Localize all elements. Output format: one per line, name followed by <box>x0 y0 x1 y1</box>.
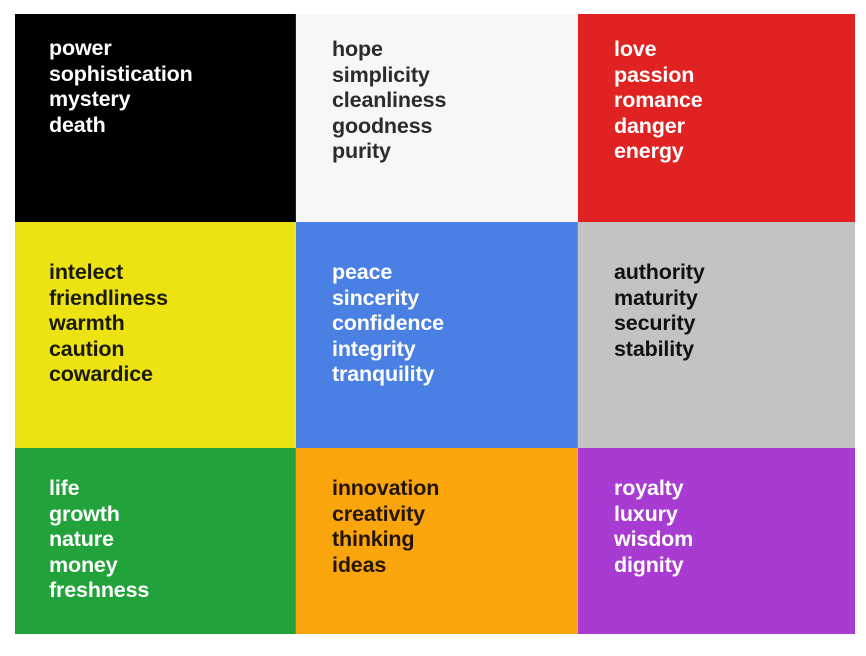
word-item: freshness <box>49 578 296 604</box>
word-item: tranquility <box>332 362 578 388</box>
color-psychology-grid: powersophisticationmysterydeathhopesimpl… <box>15 14 855 634</box>
word-list-blue: peacesincerityconfidenceintegritytranqui… <box>332 260 578 388</box>
word-item: creativity <box>332 502 578 528</box>
word-item: friendliness <box>49 286 296 312</box>
word-list-white: hopesimplicitycleanlinessgoodnesspurity <box>332 37 578 165</box>
color-cell-white: hopesimplicitycleanlinessgoodnesspurity <box>296 14 578 222</box>
word-item: warmth <box>49 311 296 337</box>
word-item: cowardice <box>49 362 296 388</box>
word-item: authority <box>614 260 855 286</box>
word-item: hope <box>332 37 578 63</box>
word-item: simplicity <box>332 63 578 89</box>
color-cell-green: lifegrowthnaturemoneyfreshness <box>15 448 296 634</box>
word-list-yellow: intelectfriendlinesswarmthcautioncowardi… <box>49 260 296 388</box>
word-item: danger <box>614 114 855 140</box>
word-list-green: lifegrowthnaturemoneyfreshness <box>49 476 296 604</box>
word-item: passion <box>614 63 855 89</box>
color-cell-blue: peacesincerityconfidenceintegritytranqui… <box>296 222 578 448</box>
word-item: goodness <box>332 114 578 140</box>
word-item: ideas <box>332 553 578 579</box>
word-item: life <box>49 476 296 502</box>
word-item: integrity <box>332 337 578 363</box>
word-item: growth <box>49 502 296 528</box>
word-item: confidence <box>332 311 578 337</box>
word-item: thinking <box>332 527 578 553</box>
color-cell-red: lovepassionromancedangerenergy <box>578 14 855 222</box>
word-item: security <box>614 311 855 337</box>
word-item: stability <box>614 337 855 363</box>
word-item: dignity <box>614 553 855 579</box>
color-cell-orange: innovationcreativitythinkingideas <box>296 448 578 634</box>
word-list-red: lovepassionromancedangerenergy <box>614 37 855 165</box>
color-cell-gray: authoritymaturitysecuritystability <box>578 222 855 448</box>
word-item: death <box>49 113 296 139</box>
word-item: royalty <box>614 476 855 502</box>
word-item: nature <box>49 527 296 553</box>
word-item: peace <box>332 260 578 286</box>
word-item: innovation <box>332 476 578 502</box>
word-item: sophistication <box>49 62 296 88</box>
word-item: power <box>49 36 296 62</box>
word-item: maturity <box>614 286 855 312</box>
color-cell-yellow: intelectfriendlinesswarmthcautioncowardi… <box>15 222 296 448</box>
word-item: wisdom <box>614 527 855 553</box>
word-item: love <box>614 37 855 63</box>
word-item: intelect <box>49 260 296 286</box>
word-list-gray: authoritymaturitysecuritystability <box>614 260 855 362</box>
color-cell-black: powersophisticationmysterydeath <box>15 14 296 222</box>
word-list-orange: innovationcreativitythinkingideas <box>332 476 578 578</box>
word-item: sincerity <box>332 286 578 312</box>
word-list-black: powersophisticationmysterydeath <box>49 36 296 138</box>
word-item: mystery <box>49 87 296 113</box>
word-item: luxury <box>614 502 855 528</box>
color-cell-purple: royaltyluxurywisdomdignity <box>578 448 855 634</box>
word-item: money <box>49 553 296 579</box>
word-item: caution <box>49 337 296 363</box>
word-item: romance <box>614 88 855 114</box>
word-item: energy <box>614 139 855 165</box>
word-item: purity <box>332 139 578 165</box>
word-item: cleanliness <box>332 88 578 114</box>
word-list-purple: royaltyluxurywisdomdignity <box>614 476 855 578</box>
